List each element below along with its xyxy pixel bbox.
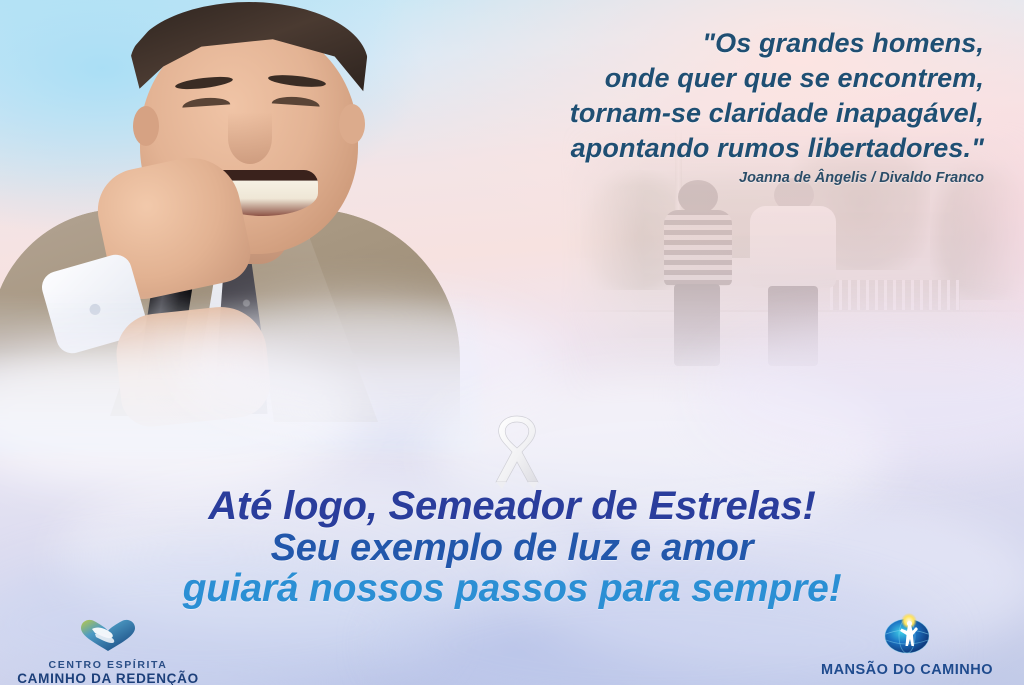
quote-line-4: apontando rumos libertadores." [364,131,984,166]
background-figure-striped-shirt [660,180,732,360]
quote-attribution: Joanna de Ângelis / Divaldo Franco [364,170,984,186]
background-figure-white-shirt [750,178,836,362]
globe-figure-torch-icon [802,612,1012,661]
white-mourning-ribbon-icon [478,408,556,490]
logo-left-line-1: CENTRO ESPÍRITA [8,659,208,671]
memorial-poster: "Os grandes homens, onde quer que se enc… [0,0,1024,685]
headline-line-3: guiará nossos passos para sempre! [0,569,1024,609]
quote-line-2: onde quer que se encontrem, [364,61,984,96]
logo-right-line-1: MANSÃO DO CAMINHO [802,662,1012,679]
headline-line-2: Seu exemplo de luz e amor [0,529,1024,568]
quote-text: "Os grandes homens, onde quer que se enc… [364,26,984,166]
logo-centro-espirita: CENTRO ESPÍRITA CAMINHO DA REDENÇÃO [8,618,208,685]
quote-line-3: tornam-se claridade inapagável, [364,96,984,131]
portrait-nose [228,112,272,164]
logo-mansao-do-caminho: MANSÃO DO CAMINHO [802,612,1012,679]
hands-heart-icon [8,618,208,657]
portrait-fade-overlay [0,294,480,454]
logo-left-line-2: CAMINHO DA REDENÇÃO [8,671,208,685]
portrait-ear-right [339,104,365,144]
headline-message: Até logo, Semeador de Estrelas! Seu exem… [0,486,1024,609]
portrait-ear-left [133,106,159,146]
headline-line-1: Até logo, Semeador de Estrelas! [0,486,1024,527]
quote-line-1: "Os grandes homens, [364,26,984,61]
